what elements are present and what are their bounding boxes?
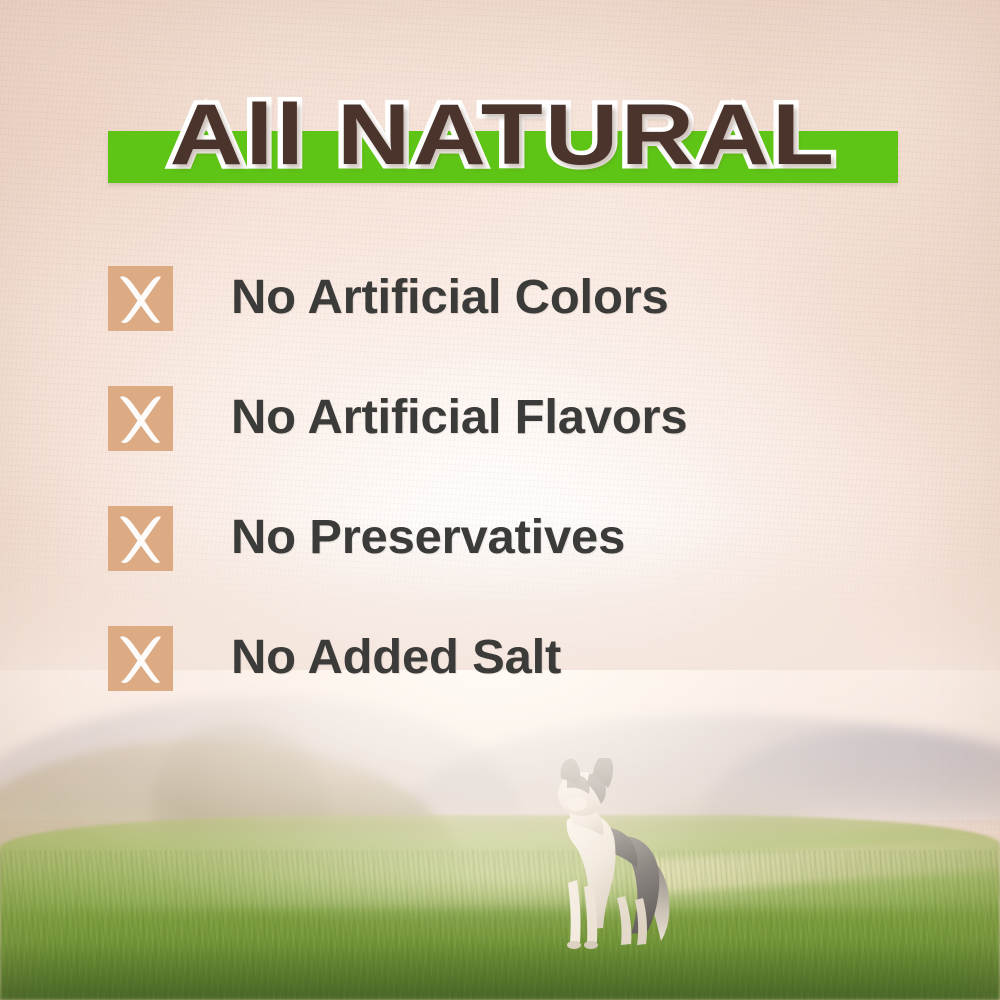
- feature-label: No Preservatives: [231, 510, 625, 566]
- feature-row-no-artificial-colors: No Artificial Colors: [108, 265, 928, 331]
- feature-row-no-added-salt: No Added Salt: [108, 625, 928, 691]
- headline-text: All NATURAL: [37, 86, 969, 184]
- headline-banner: All NATURAL: [108, 86, 898, 186]
- x-mark-icon: [108, 506, 173, 571]
- border-collie-dog: [527, 758, 697, 958]
- x-mark-icon: [108, 626, 173, 691]
- feature-label: No Artificial Colors: [231, 270, 669, 326]
- feature-label: No Artificial Flavors: [231, 390, 687, 446]
- feature-row-no-preservatives: No Preservatives: [108, 505, 928, 571]
- feature-list: No Artificial Colors No Artificial Flavo…: [108, 265, 928, 691]
- meadow-photograph: [0, 670, 1000, 1000]
- feature-label: No Added Salt: [231, 630, 561, 686]
- dog-rear-leg-left: [617, 896, 631, 945]
- dog-muzzle: [567, 797, 587, 811]
- feature-row-no-artificial-flavors: No Artificial Flavors: [108, 385, 928, 451]
- photo-grass-shadow: [0, 942, 1000, 1000]
- all-natural-feature-panel: All NATURAL No Artificial Colors No Arti…: [0, 0, 1000, 1000]
- dog-front-leg-left: [568, 880, 581, 943]
- x-mark-icon: [108, 266, 173, 331]
- dog-paw-right: [584, 941, 598, 949]
- x-mark-icon: [108, 386, 173, 451]
- dog-paw-left: [567, 941, 581, 949]
